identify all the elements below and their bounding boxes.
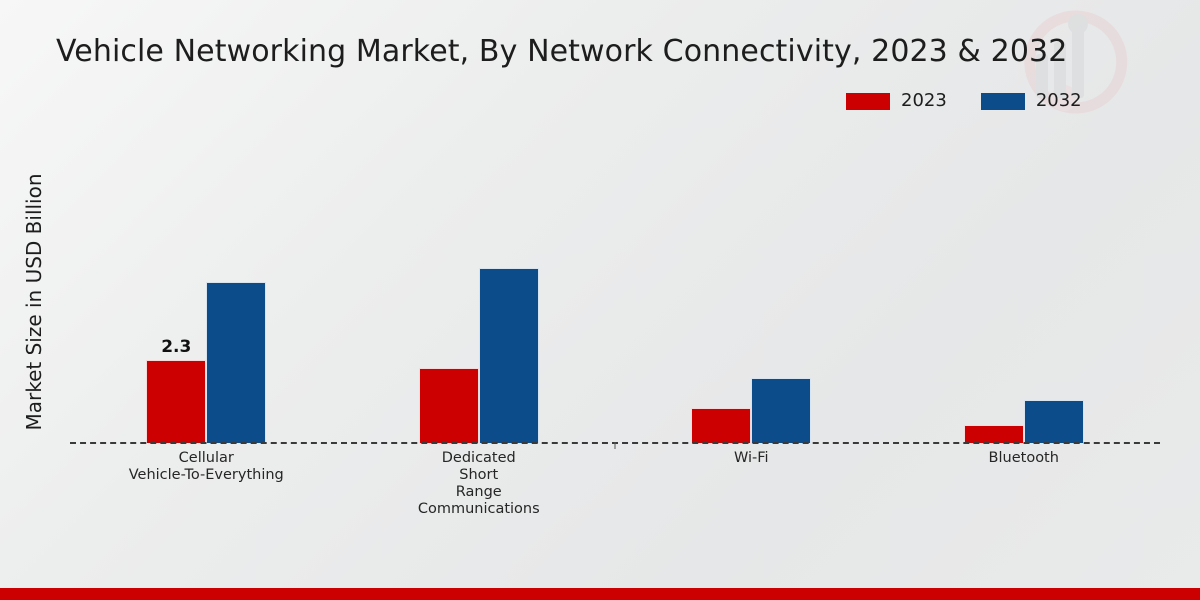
- x-label-wifi: Wi-Fi: [615, 450, 888, 518]
- x-label-line: Vehicle-To-Everything: [70, 467, 343, 484]
- footer-accent-bar: [0, 588, 1200, 600]
- bar-group-dsrc: [343, 130, 616, 443]
- bar-group-bluetooth: [888, 130, 1161, 443]
- x-axis-category-labels: Cellular Vehicle-To-Everything Dedicated…: [70, 450, 1160, 518]
- bar-group-wifi: [615, 130, 888, 443]
- bar-2032-cellular-v2x[interactable]: [206, 282, 266, 443]
- x-label-line: Wi-Fi: [615, 450, 888, 467]
- x-label-line: Bluetooth: [888, 450, 1161, 467]
- bar-2032-dsrc[interactable]: [479, 268, 539, 443]
- bar-2023-dsrc[interactable]: [419, 368, 479, 443]
- bars-bluetooth: [964, 130, 1084, 443]
- x-label-line: Range: [343, 484, 616, 501]
- x-label-line: Dedicated: [343, 450, 616, 467]
- bars-wifi: [691, 130, 811, 443]
- x-label-dsrc: Dedicated Short Range Communications: [343, 450, 616, 518]
- y-axis-title: Market Size in USD Billion: [22, 137, 46, 467]
- x-label-line: Communications: [343, 501, 616, 518]
- chart-title: Vehicle Networking Market, By Network Co…: [56, 34, 1067, 69]
- chart-canvas: Vehicle Networking Market, By Network Co…: [0, 0, 1200, 600]
- plot-area: 2.3: [70, 130, 1160, 443]
- x-label-bluetooth: Bluetooth: [888, 450, 1161, 518]
- legend-swatch-2032: [981, 93, 1025, 110]
- legend-swatch-2023: [846, 93, 890, 110]
- bars-cellular-v2x: 2.3: [146, 130, 266, 443]
- bar-2032-bluetooth[interactable]: [1024, 400, 1084, 443]
- legend-label-2023: 2023: [901, 92, 947, 110]
- x-label-cellular-v2x: Cellular Vehicle-To-Everything: [70, 450, 343, 518]
- legend-label-2032: 2032: [1036, 92, 1082, 110]
- bar-2032-wifi[interactable]: [751, 378, 811, 443]
- x-label-line: Cellular: [70, 450, 343, 467]
- bar-2023-wifi[interactable]: [691, 408, 751, 443]
- x-label-line: Short: [343, 467, 616, 484]
- legend-item-2032[interactable]: 2032: [981, 92, 1082, 110]
- bar-value-2023-cellular-v2x: 2.3: [161, 337, 191, 357]
- x-tick-bluetooth: [615, 442, 616, 449]
- chart-legend: 2023 2032: [846, 92, 1082, 110]
- bar-2023-bluetooth[interactable]: [964, 425, 1024, 443]
- bar-2023-cellular-v2x[interactable]: 2.3: [146, 360, 206, 443]
- bars-dsrc: [419, 130, 539, 443]
- legend-item-2023[interactable]: 2023: [846, 92, 947, 110]
- bar-group-cellular-v2x: 2.3: [70, 130, 343, 443]
